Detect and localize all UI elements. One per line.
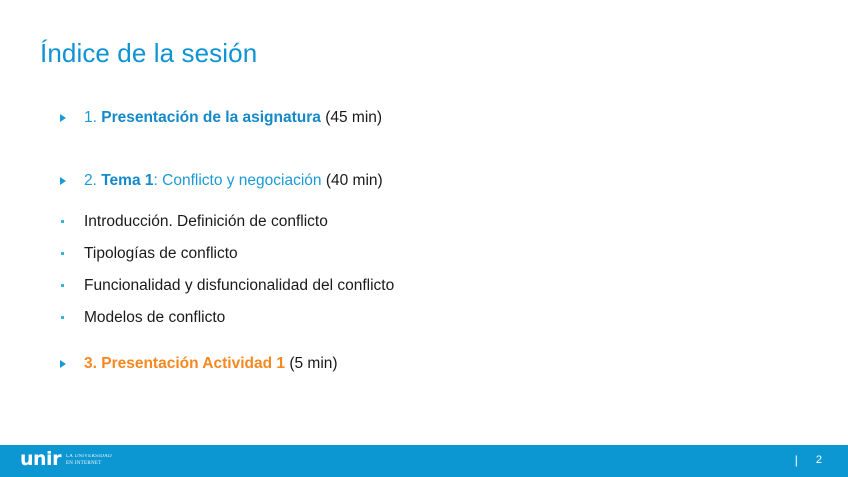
agenda-list: 1. Presentación de la asignatura (45 min… — [0, 108, 848, 374]
agenda-subitem-funcionalidad-label: Funcionalidad y disfuncionalidad del con… — [84, 277, 394, 294]
spacer — [0, 191, 848, 212]
page-number: 2 — [816, 454, 822, 466]
unir-logo: unir La Universidad en Internet — [20, 449, 112, 469]
square-bullet-icon — [61, 252, 64, 255]
agenda-item-2-duration: (40 min) — [322, 172, 383, 189]
spacer — [0, 328, 848, 354]
footer-bar: unir La Universidad en Internet | 2 — [0, 445, 848, 477]
triangle-bullet-icon — [60, 114, 66, 122]
agenda-subitem-tipologias[interactable]: Tipologías de conflicto — [0, 244, 848, 264]
agenda-subitem-funcionalidad[interactable]: Funcionalidad y disfuncionalidad del con… — [0, 276, 848, 296]
spacer — [0, 128, 848, 171]
agenda-subitem-modelos-label: Modelos de conflicto — [84, 309, 225, 326]
unir-logo-wordmark: unir — [20, 449, 61, 469]
agenda-subitem-introduccion-label: Introducción. Definición de conflicto — [84, 213, 328, 230]
unir-logo-tagline: La Universidad en Internet — [66, 454, 112, 467]
agenda-subitem-introduccion[interactable]: Introducción. Definición de conflicto — [0, 212, 848, 232]
square-bullet-icon — [61, 284, 64, 287]
agenda-item-3-duration: (5 min) — [285, 355, 338, 372]
agenda-item-1[interactable]: 1. Presentación de la asignatura (45 min… — [0, 108, 848, 128]
agenda-item-1-title: Presentación de la asignatura — [101, 109, 321, 126]
agenda-item-1-number: 1. — [84, 109, 101, 126]
unir-logo-tagline-line2: en Internet — [66, 461, 102, 466]
agenda-item-2-title: : Conflicto y negociación — [154, 172, 322, 189]
footer-separator: | — [795, 453, 798, 467]
spacer — [0, 264, 848, 276]
agenda-item-2[interactable]: 2. Tema 1: Conflicto y negociación (40 m… — [0, 171, 848, 191]
spacer — [0, 296, 848, 308]
square-bullet-icon — [61, 316, 64, 319]
agenda-item-2-number: 2. — [84, 172, 101, 189]
agenda-subitem-modelos[interactable]: Modelos de conflicto — [0, 308, 848, 328]
agenda-item-1-duration: (45 min) — [321, 109, 382, 126]
agenda-item-3[interactable]: 3. Presentación Actividad 1 (5 min) — [0, 354, 848, 374]
triangle-bullet-icon — [60, 360, 66, 368]
square-bullet-icon — [61, 220, 64, 223]
triangle-bullet-icon — [60, 177, 66, 185]
agenda-subitem-tipologias-label: Tipologías de conflicto — [84, 245, 238, 262]
agenda-item-2-topic: Tema 1 — [101, 172, 153, 189]
slide-canvas: Índice de la sesión 1. Presentación de l… — [0, 0, 848, 477]
agenda-item-3-title: 3. Presentación Actividad 1 — [84, 355, 285, 372]
page-title: Índice de la sesión — [40, 38, 257, 69]
unir-logo-tagline-line1: La Universidad — [66, 454, 112, 459]
footer-page-area: | 2 — [795, 453, 822, 467]
spacer — [0, 232, 848, 244]
